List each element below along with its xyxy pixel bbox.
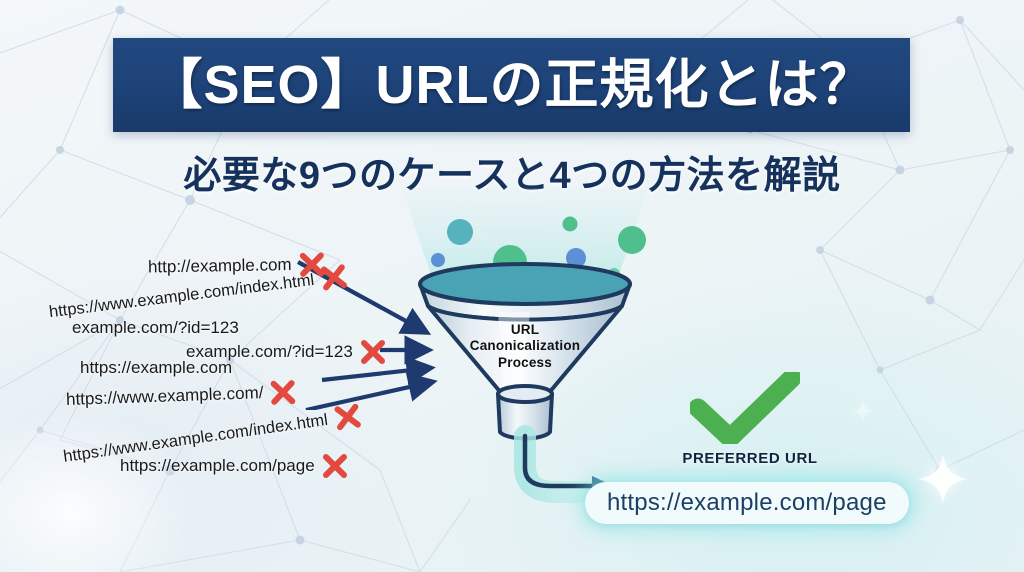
preferred-url-text: https://example.com/page: [607, 489, 887, 517]
cross-icon: [321, 452, 349, 480]
preferred-url-pill[interactable]: https://example.com/page: [585, 482, 909, 524]
list-item: https://example.com: [80, 358, 232, 378]
preferred-url-label: PREFERRED URL: [640, 450, 860, 467]
list-item: https://www.example.com/: [66, 378, 298, 414]
sparkle-small-icon: [852, 400, 874, 422]
seo-infographic-canvas: 【SEO】URLの正規化とは？ 必要な9つのケースと4つの方法を解説 http:…: [0, 0, 1024, 572]
input-url-list: http://example.com https://www.example.c…: [0, 236, 420, 486]
url-text: https://example.com: [80, 358, 232, 378]
cross-icon: [332, 401, 364, 433]
page-title: 【SEO】URLの正規化とは？: [148, 58, 874, 112]
title-banner: 【SEO】URLの正規化とは？: [113, 38, 910, 132]
url-text: example.com/?id=123: [72, 318, 239, 338]
checkmark-icon: [690, 372, 800, 444]
sparkle-icon: [916, 452, 970, 506]
list-item: example.com/?id=123: [72, 318, 239, 338]
success-check: [690, 372, 800, 449]
url-text: https://www.example.com/: [66, 383, 264, 410]
list-item: https://example.com/page: [120, 452, 349, 480]
url-text: https://example.com/page: [120, 456, 315, 476]
cross-icon: [318, 262, 349, 293]
cross-icon: [269, 378, 298, 407]
